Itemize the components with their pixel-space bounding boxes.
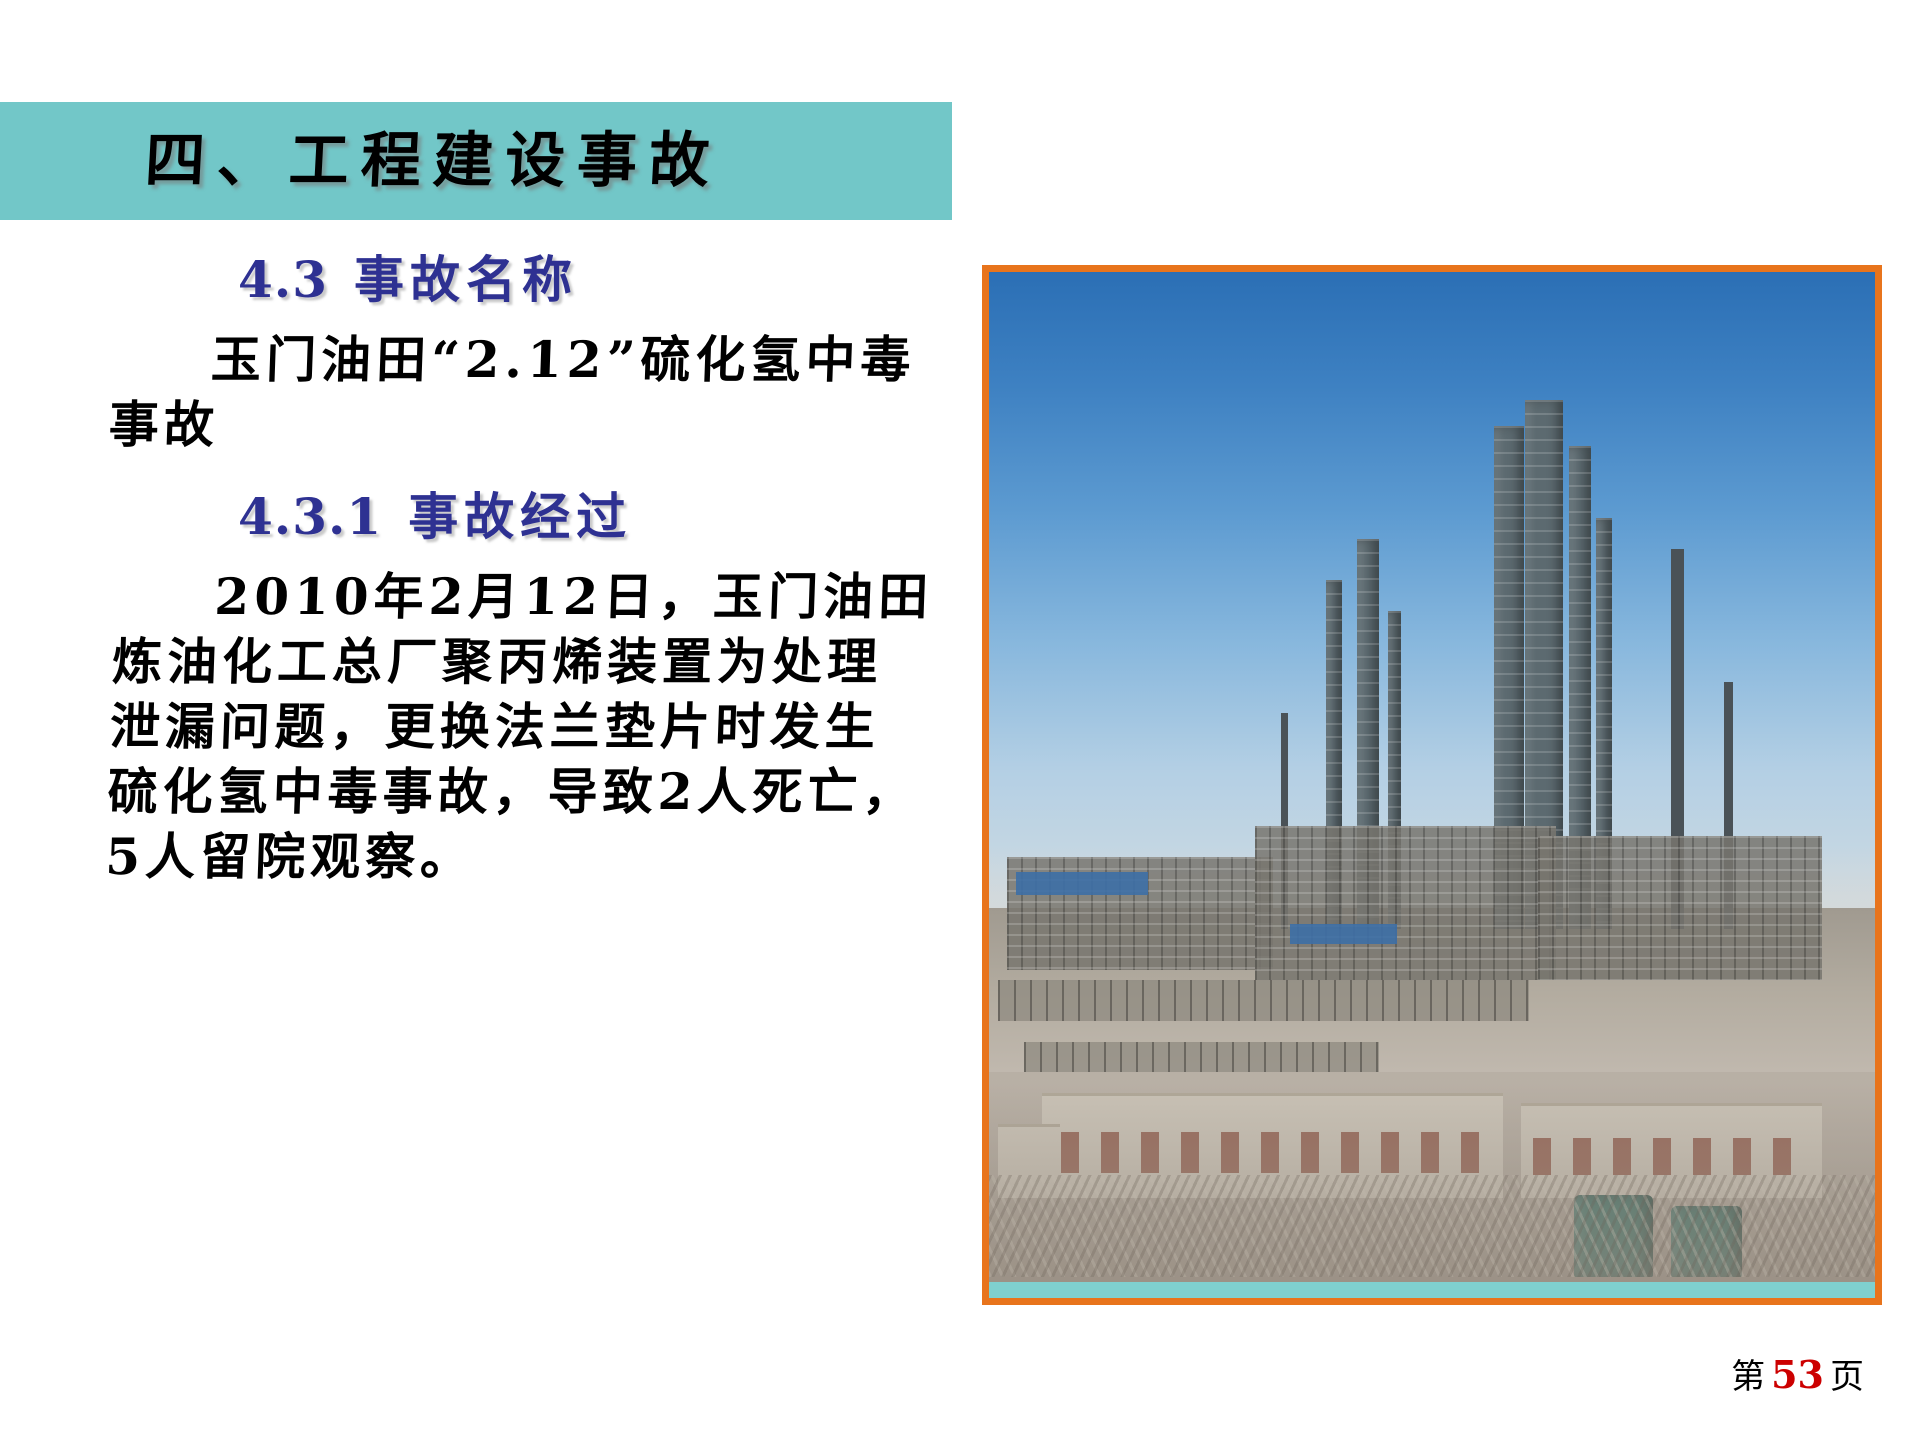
section-heading-label: 事故名称 bbox=[354, 250, 578, 309]
text-column: 4.3事故名称 玉门油田“2.12”硫化氢中毒事故 4.3.1事故经过 2010… bbox=[0, 250, 960, 889]
section-4-3-paragraph: 玉门油田“2.12”硫化氢中毒事故 bbox=[108, 327, 933, 457]
section-4-3-1-paragraph: 2010年2月12日，玉门油田炼油化工总厂聚丙烯装置为处理泄漏问题，更换法兰垫片… bbox=[104, 564, 935, 889]
blue-roof-left bbox=[1016, 872, 1149, 895]
photo-bottom-strip bbox=[989, 1282, 1875, 1298]
pipe-rack-low bbox=[1024, 1042, 1378, 1073]
subsection-heading-label: 事故经过 bbox=[408, 487, 632, 546]
section-heading-4-3: 4.3事故名称 bbox=[238, 250, 960, 309]
photo-construction-ground-texture bbox=[989, 1175, 1875, 1278]
refinery-photo bbox=[989, 272, 1875, 1298]
header-banner: 四、工程建设事故 bbox=[0, 102, 952, 220]
footer-page-number: 53 bbox=[1771, 1352, 1824, 1397]
page-footer: 第53页 bbox=[1731, 1349, 1864, 1398]
blue-roof-center bbox=[1290, 924, 1396, 945]
refinery-photo-frame bbox=[982, 265, 1882, 1305]
footer-suffix: 页 bbox=[1830, 1357, 1864, 1397]
section-heading-4-3-1: 4.3.1事故经过 bbox=[238, 487, 960, 546]
page-title: 四、工程建设事故 bbox=[143, 131, 722, 191]
footer-prefix: 第 bbox=[1731, 1357, 1765, 1397]
slide-canvas: 四、工程建设事故 4.3事故名称 玉门油田“2.12”硫化氢中毒事故 4.3.1… bbox=[0, 0, 1920, 1440]
pipe-rack-mid bbox=[998, 980, 1530, 1021]
process-structure-right bbox=[1538, 836, 1822, 980]
subsection-number: 4.3.1 bbox=[238, 487, 382, 546]
section-number: 4.3 bbox=[238, 250, 328, 309]
photo-sky bbox=[989, 272, 1875, 908]
process-structure-center bbox=[1255, 826, 1556, 980]
